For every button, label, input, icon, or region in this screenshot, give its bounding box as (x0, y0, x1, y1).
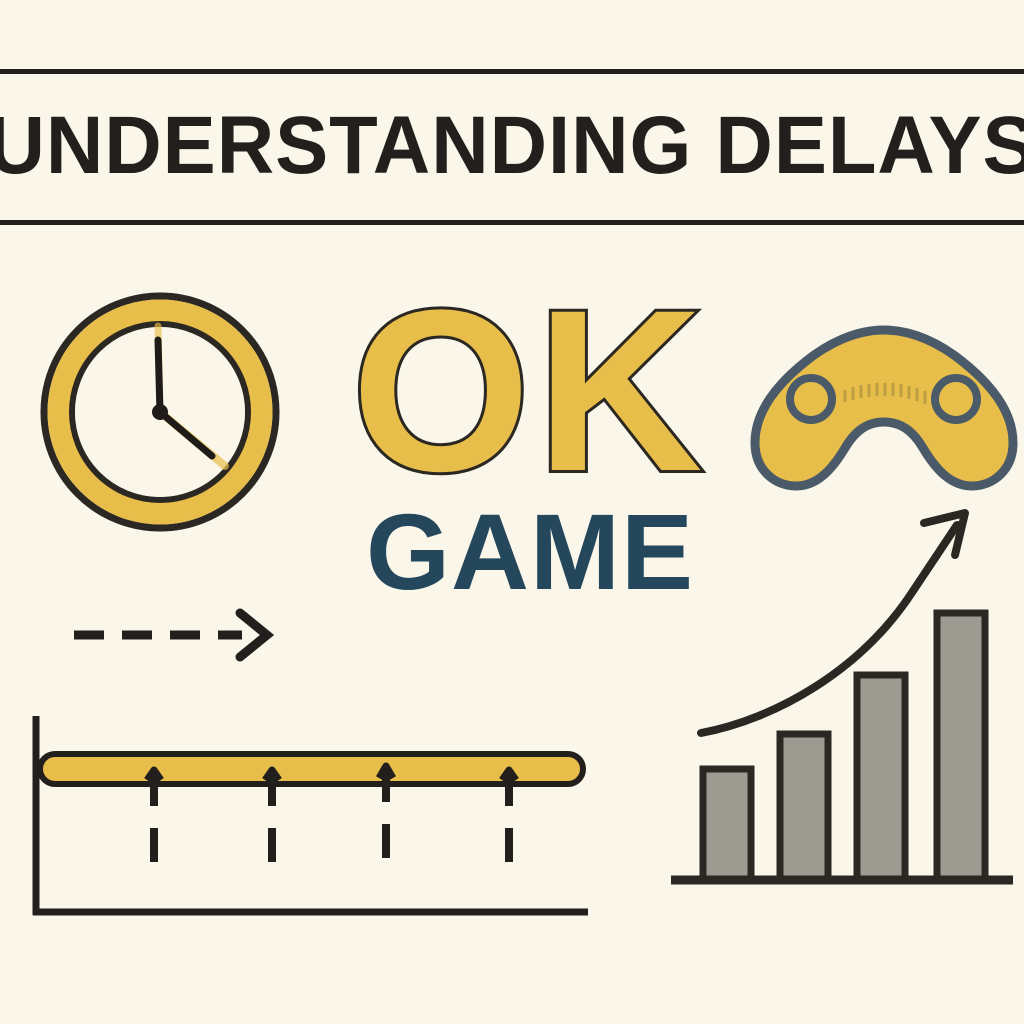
header-rule-bottom (0, 220, 1024, 225)
bar-3 (857, 675, 905, 880)
gantt-timeline-chart (18, 712, 608, 927)
growth-bar-chart (665, 495, 1020, 895)
page-title: UNDERSTANDING DELAYS (15, 86, 1008, 206)
bar-4 (937, 613, 985, 880)
bar-series (703, 613, 985, 880)
trend-arrow-icon (701, 513, 965, 733)
clock-icon (30, 288, 290, 538)
dashed-arrow-right-icon (70, 605, 285, 665)
gamepad-icon (745, 318, 1024, 498)
wordmark-ok: OK (330, 268, 730, 513)
poster-canvas: UNDERSTANDING DELAYS OK GAME (0, 0, 1024, 1024)
header-rule-top (0, 69, 1024, 74)
bar-1 (703, 769, 751, 880)
bar-2 (780, 734, 828, 880)
